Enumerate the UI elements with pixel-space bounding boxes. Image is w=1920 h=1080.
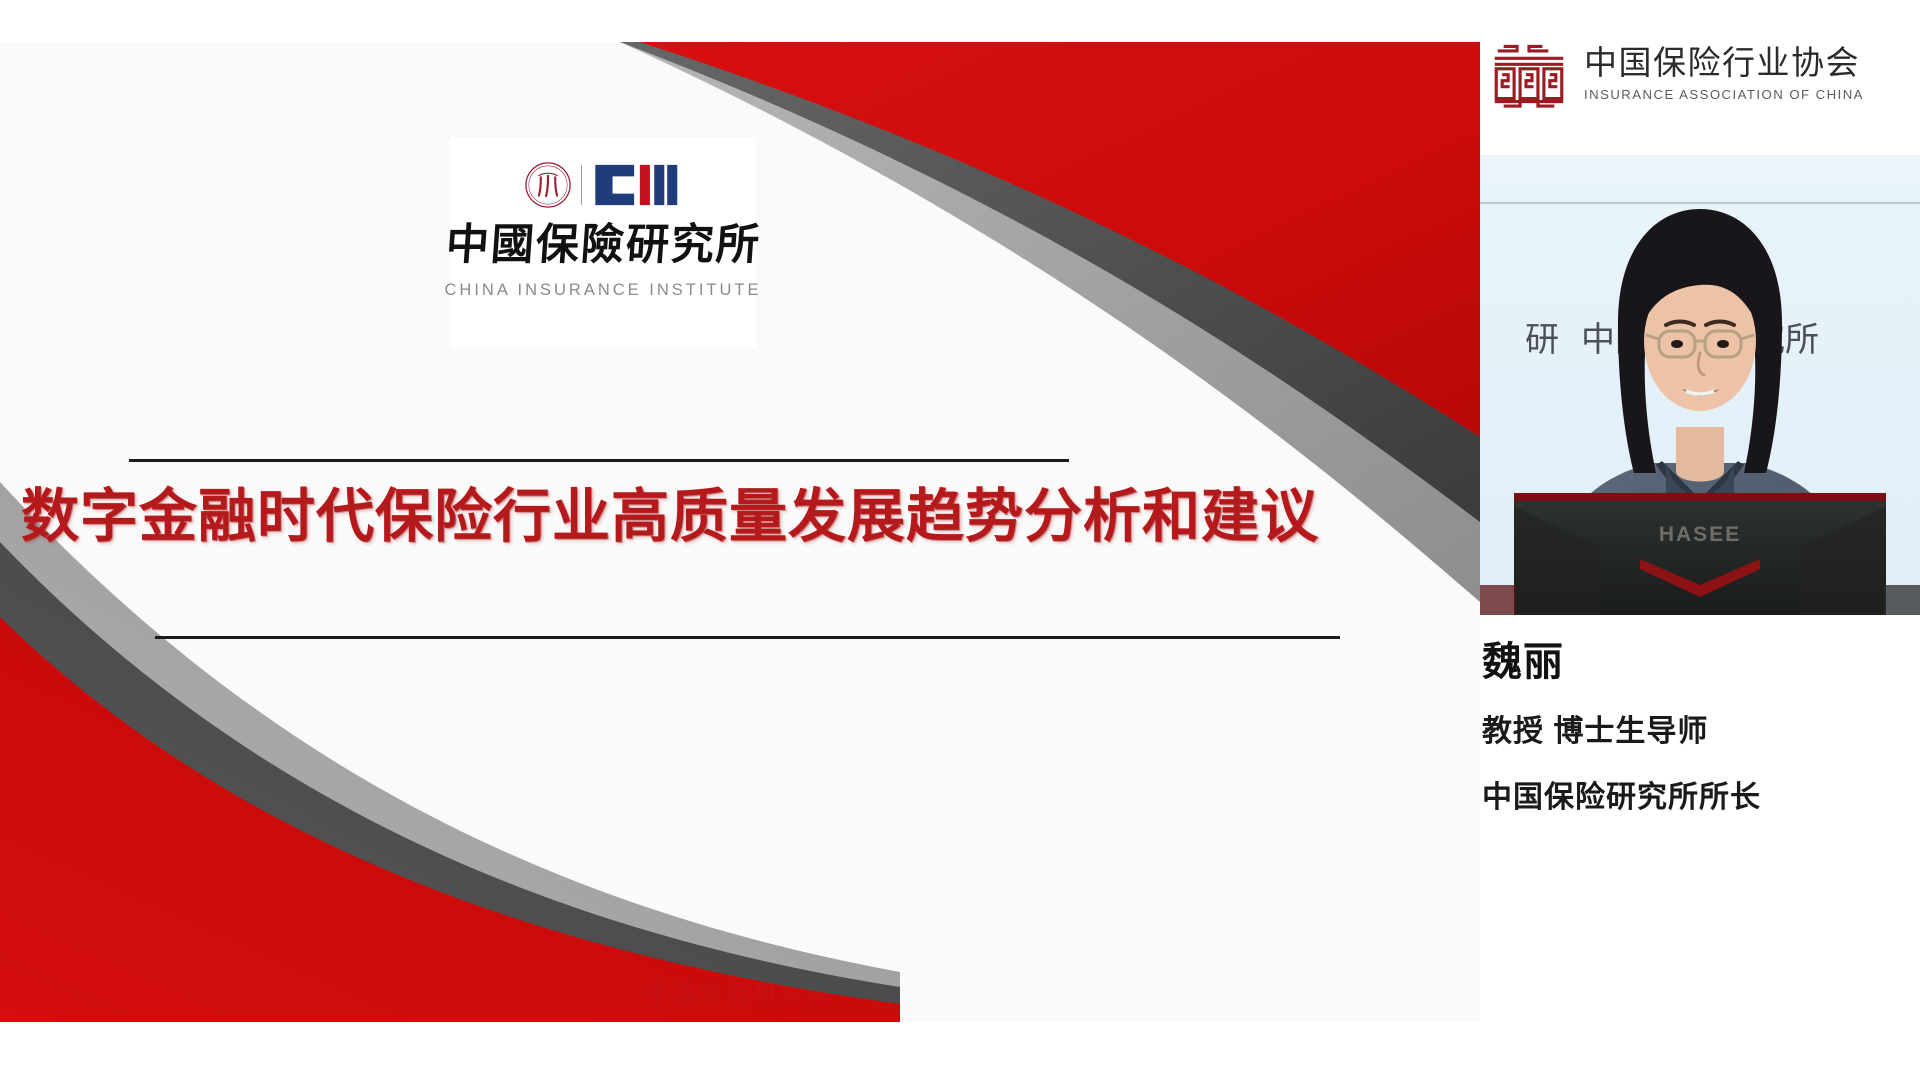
slide-watermark: 中国保险研究所	[560, 974, 920, 1008]
insurance-association-of-china-emblem-icon	[1490, 39, 1568, 109]
logo-marks-row	[524, 158, 683, 212]
logo-institute-name-cn: 中國保險研究所	[444, 224, 762, 267]
speaker-credits: 魏丽 教授 博士生导师 中国保险研究所所长	[1480, 640, 1920, 816]
title-rule-top	[129, 459, 1069, 462]
presentation-slide[interactable]: 中國保險研究所 CHINA INSURANCE INSTITUTE 数字金融时代…	[0, 42, 1480, 1022]
cii-wordmark-icon	[591, 162, 683, 208]
logo-divider	[581, 165, 582, 205]
speaker-side-panel: 中国保险行业协会 INSURANCE ASSOCIATION OF CHINA	[1480, 0, 1920, 1080]
svg-text:HASEE: HASEE	[1659, 523, 1741, 546]
slide-title: 数字金融时代保险行业高质量发展趋势分析和建议	[0, 484, 1340, 551]
screen-root: 中國保險研究所 CHINA INSURANCE INSTITUTE 数字金融时代…	[0, 0, 1920, 1080]
organization-name-en: INSURANCE ASSOCIATION OF CHINA	[1584, 87, 1864, 102]
organization-header: 中国保险行业协会 INSURANCE ASSOCIATION OF CHINA	[1480, 34, 1920, 114]
speaker-title-line-1: 教授 博士生导师	[1482, 714, 1920, 750]
speaker-title-line-2: 中国保险研究所所长	[1482, 780, 1920, 816]
organization-name-cn: 中国保险行业协会	[1584, 46, 1864, 81]
svg-text:研: 研	[1525, 321, 1559, 359]
logo-institute-name-en: CHINA INSURANCE INSTITUTE	[444, 281, 761, 300]
title-rule-bottom	[155, 636, 1340, 639]
speaker-video-frame: 中国保险研究所 研	[1480, 155, 1920, 615]
renmin-university-seal-icon	[524, 161, 572, 209]
china-insurance-institute-logo: 中國保險研究所 CHINA INSURANCE INSTITUTE	[450, 138, 756, 348]
organization-text: 中国保险行业协会 INSURANCE ASSOCIATION OF CHINA	[1584, 46, 1864, 102]
speaker-video-tile[interactable]: 中国保险研究所 研	[1480, 155, 1920, 615]
speaker-name: 魏丽	[1482, 640, 1920, 684]
